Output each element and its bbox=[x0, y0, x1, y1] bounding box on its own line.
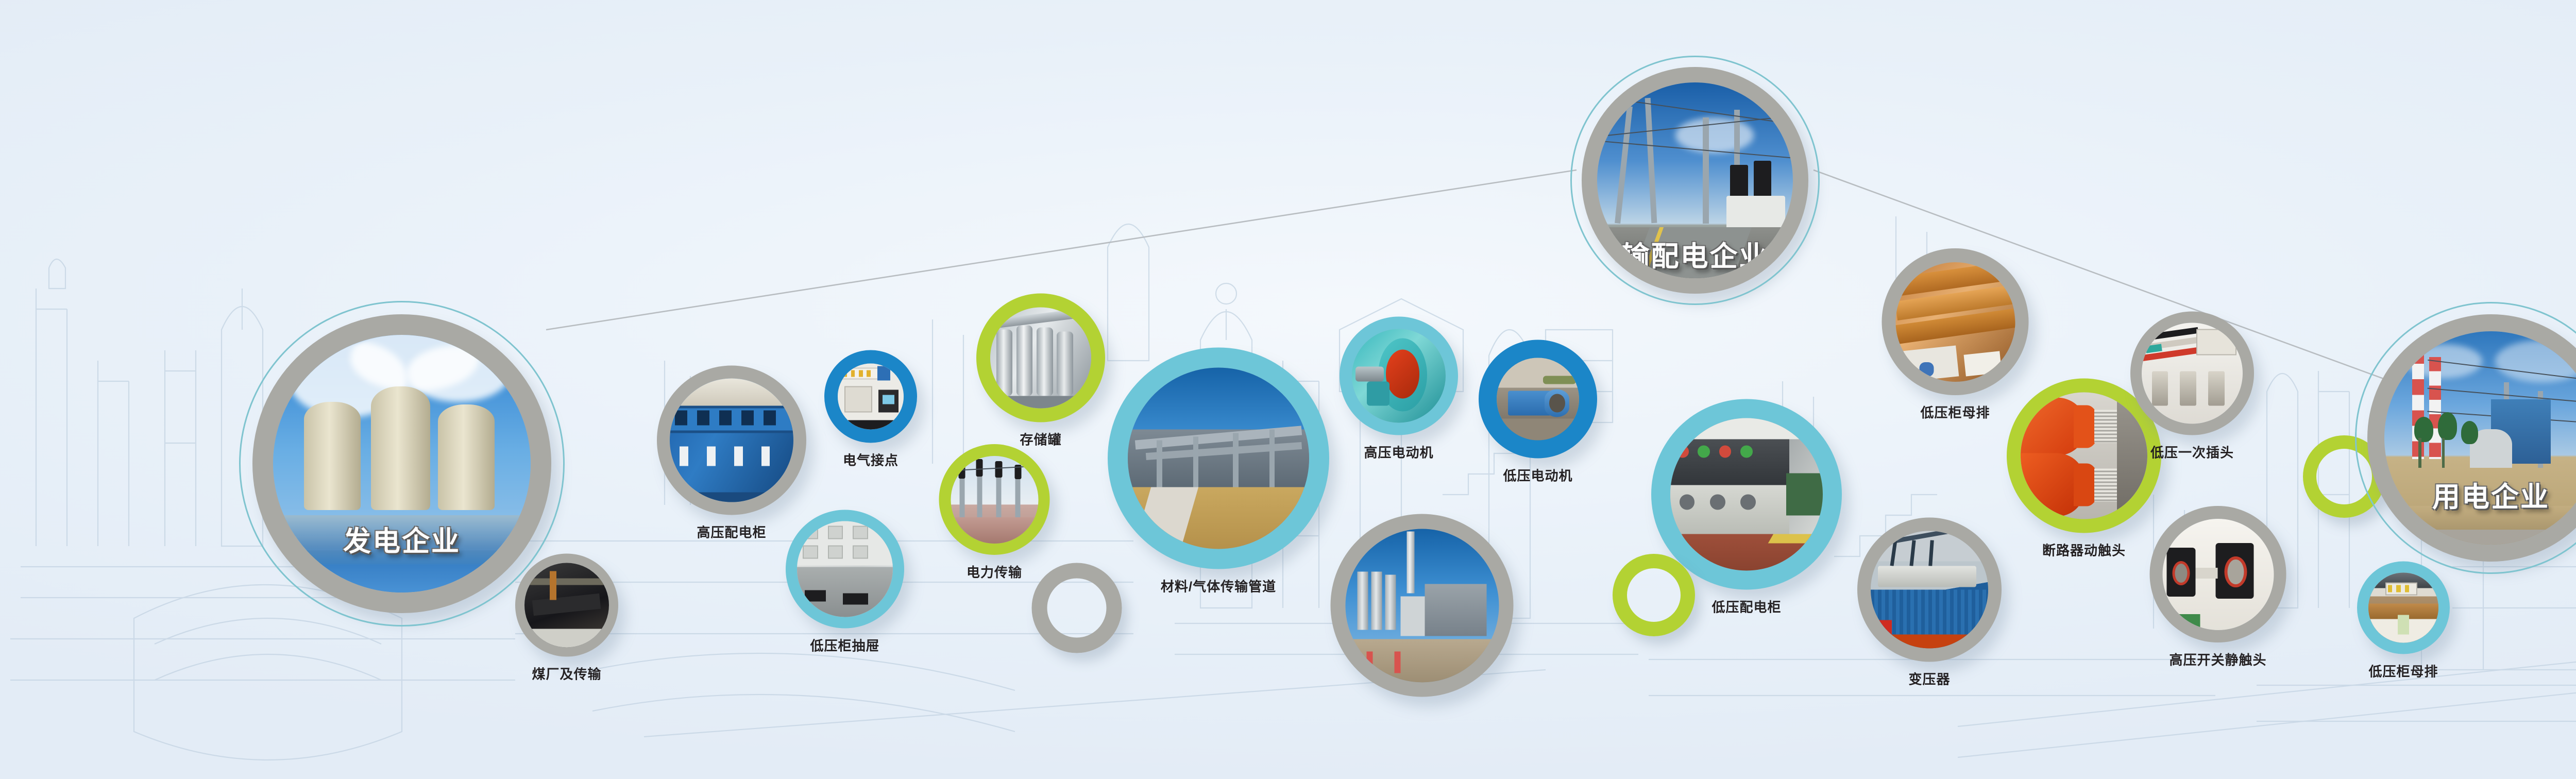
photo-coastal-plant: 用电企业 bbox=[2384, 331, 2576, 545]
node-electrical-contact-point[interactable]: 电气接点 bbox=[824, 350, 917, 469]
photo-substation-insulators bbox=[951, 456, 1038, 544]
photo-busbar-copper bbox=[1895, 262, 2015, 382]
photo-static-contact bbox=[2162, 519, 2274, 630]
node-caption: 高压开关静触头 bbox=[2169, 650, 2266, 669]
ring-gray: 用电企业 bbox=[2367, 314, 2576, 562]
photo-coal-conveyor bbox=[524, 563, 609, 648]
ring-teal bbox=[2357, 562, 2450, 654]
node-transmission-distribution-enterprise[interactable]: 输配电企业 bbox=[1582, 67, 1808, 294]
node-lv-cabinet-busbar-bottom[interactable]: 低压柜母排 bbox=[2357, 562, 2450, 681]
node-caption: 断路器动触头 bbox=[2042, 540, 2126, 560]
node-caption: 低压柜母排 bbox=[1920, 402, 1990, 421]
ring-blue bbox=[824, 350, 917, 443]
photo-blue-switchgear bbox=[670, 379, 793, 502]
node-caption: 电力传输 bbox=[967, 562, 1022, 581]
node-lv-cabinet-drawer[interactable]: 低压柜抽屉 bbox=[786, 510, 904, 655]
node-caption: 低压一次插头 bbox=[2150, 443, 2234, 462]
photo-busbar-terminal bbox=[2368, 573, 2438, 643]
node-plant-overview[interactable] bbox=[1331, 514, 1514, 697]
node-caption: 电气接点 bbox=[843, 450, 899, 469]
node-coal-plant-transport[interactable]: 煤厂及传输 bbox=[515, 554, 618, 683]
node-power-generation-enterprise[interactable]: 发电企业 bbox=[252, 314, 551, 613]
node-caption: 低压柜抽屉 bbox=[810, 636, 879, 655]
ring-teal bbox=[786, 510, 904, 629]
node-caption: 材料/气体传输管道 bbox=[1161, 577, 1276, 596]
ring-teal bbox=[1108, 348, 1329, 569]
node-caption: 低压电动机 bbox=[1503, 466, 1572, 485]
stage-title: 发电企业 bbox=[343, 518, 461, 559]
photo-transformer bbox=[1871, 531, 1988, 649]
stage-title: 用电企业 bbox=[2432, 474, 2550, 515]
node-transformer[interactable]: 变压器 bbox=[1857, 518, 2002, 688]
stage-title: 输配电企业 bbox=[1622, 233, 1769, 274]
node-lv-primary-plug[interactable]: 低压一次插头 bbox=[2130, 312, 2254, 462]
node-deco-ring-green-1 bbox=[1613, 554, 1695, 636]
node-power-consuming-enterprise[interactable]: 用电企业 bbox=[2367, 314, 2576, 562]
node-caption: 存储罐 bbox=[1020, 430, 1061, 449]
node-caption: 低压配电柜 bbox=[1711, 597, 1781, 616]
photo-substation-wide: 输配电企业 bbox=[1597, 82, 1793, 278]
photo-tank-farm bbox=[990, 308, 1091, 409]
photo-terminal-block bbox=[838, 364, 904, 430]
ring-gray bbox=[1331, 514, 1514, 697]
decorative-ring-icon bbox=[1613, 554, 1695, 636]
node-lv-motor[interactable]: 低压电动机 bbox=[1479, 340, 1597, 485]
photo-lv-motor bbox=[1497, 358, 1579, 441]
ring-gray bbox=[1882, 248, 2029, 395]
ring-gray bbox=[657, 366, 806, 515]
ring-gray bbox=[2150, 506, 2286, 642]
node-storage-tank[interactable]: 存储罐 bbox=[976, 294, 1105, 449]
ring-gray bbox=[1857, 518, 2002, 662]
ring-gray: 发电企业 bbox=[252, 314, 551, 613]
photo-breaker-contact bbox=[2021, 393, 2147, 519]
photo-primary-plug bbox=[2142, 323, 2243, 424]
node-hv-distribution-cabinet[interactable]: 高压配电柜 bbox=[657, 366, 806, 541]
photo-hv-motor bbox=[1352, 329, 1446, 423]
node-caption: 高压电动机 bbox=[1364, 443, 1433, 462]
ring-gray: 输配电企业 bbox=[1582, 67, 1808, 294]
ring-blue bbox=[1479, 340, 1597, 459]
photo-pipe-rack bbox=[1128, 368, 1309, 549]
photo-cooling-towers: 发电企业 bbox=[273, 335, 531, 592]
ring-teal bbox=[1340, 317, 1458, 435]
node-material-gas-pipeline[interactable]: 材料/气体传输管道 bbox=[1108, 348, 1329, 596]
photo-lv-switchgear bbox=[1670, 418, 1823, 571]
node-caption: 高压配电柜 bbox=[697, 522, 766, 541]
ring-green bbox=[939, 444, 1050, 555]
node-power-transmission[interactable]: 电力传输 bbox=[939, 444, 1050, 581]
photo-plant-stacks bbox=[1345, 529, 1499, 682]
ring-gray bbox=[515, 554, 618, 657]
node-caption: 低压柜母排 bbox=[2368, 662, 2438, 681]
ring-gray bbox=[2130, 312, 2254, 435]
ring-green bbox=[976, 294, 1105, 422]
photo-lv-drawer bbox=[797, 521, 893, 617]
node-caption: 变压器 bbox=[1908, 669, 1950, 688]
node-hv-switch-static-contact[interactable]: 高压开关静触头 bbox=[2150, 506, 2286, 669]
node-hv-motor[interactable]: 高压电动机 bbox=[1340, 317, 1458, 462]
node-caption: 煤厂及传输 bbox=[532, 664, 601, 683]
